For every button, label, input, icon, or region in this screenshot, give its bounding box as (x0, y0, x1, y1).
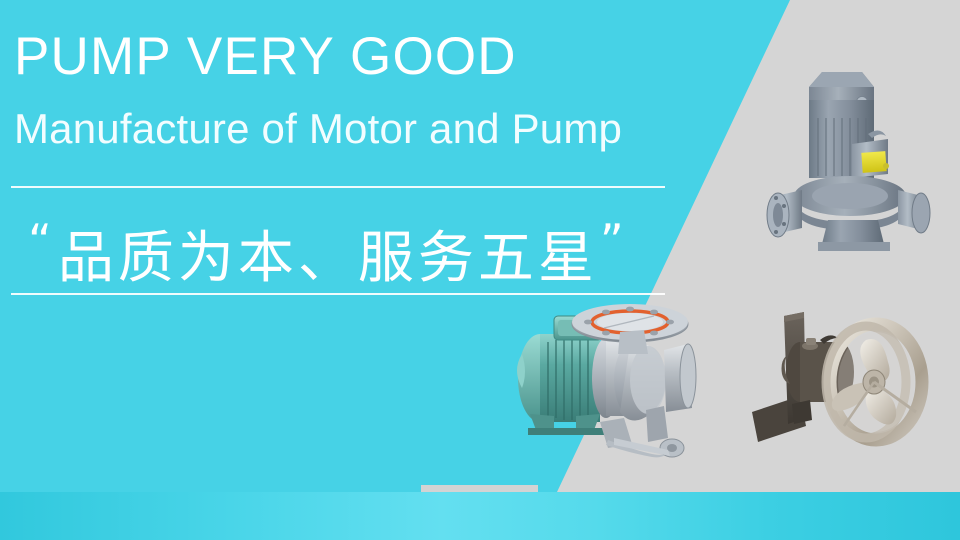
slogan-chinese-text: 品质为本、服务五星 (58, 226, 598, 291)
slogan-text: “品质为本、服务五星” (26, 198, 630, 302)
vertical-inline-pipeline-pump-image (762, 44, 960, 274)
promotional-banner: PUMP VERY GOOD Manufacture of Motor and … (0, 0, 960, 540)
page-title: PUMP VERY GOOD (14, 28, 517, 86)
submersible-mixer-image (748, 300, 948, 465)
open-quote-mark: “ (26, 214, 58, 268)
horizontal-centrifugal-pump-image (496, 304, 736, 464)
bottom-cyan-bar (0, 492, 960, 540)
divider-top (11, 186, 665, 188)
close-quote-mark: ” (598, 214, 630, 268)
page-subtitle: Manufacture of Motor and Pump (14, 104, 622, 154)
bottom-gray-tab (421, 485, 538, 492)
